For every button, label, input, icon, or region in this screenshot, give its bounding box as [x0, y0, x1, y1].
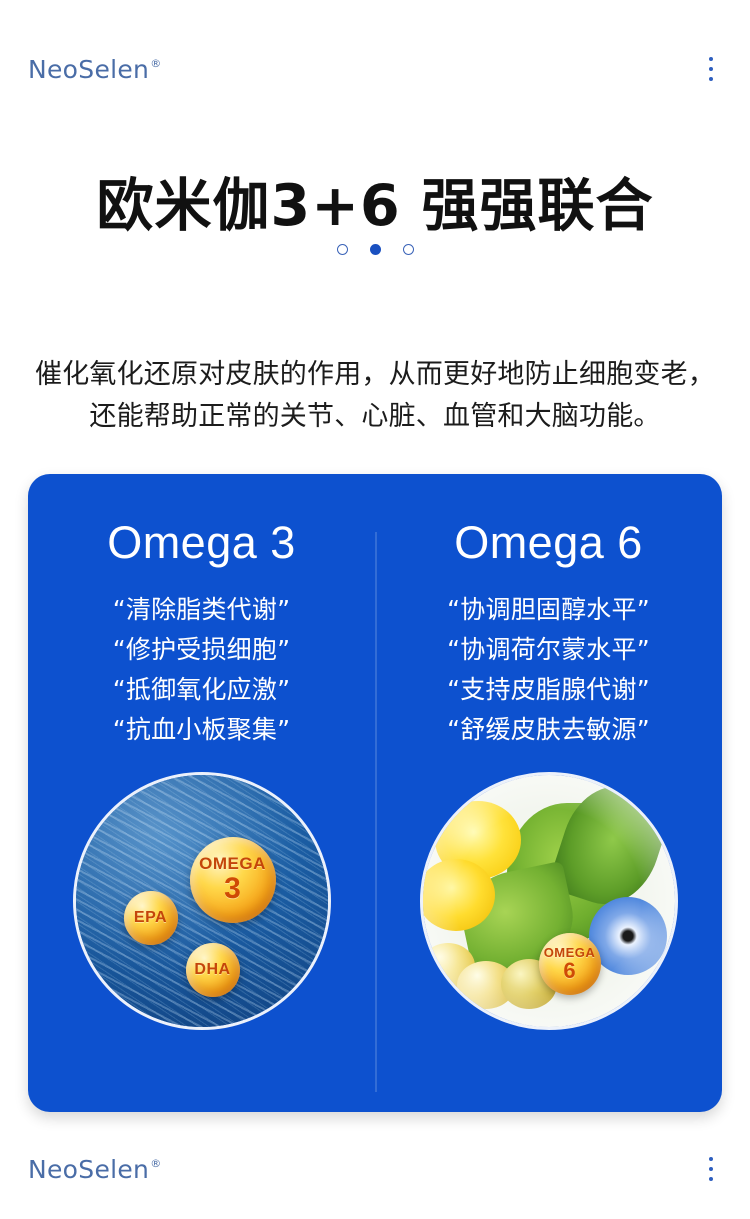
list-item: “协调荷尔蒙水平”	[447, 630, 650, 670]
page-footer: NeoSelen®	[0, 1140, 750, 1198]
botanical-background	[423, 775, 675, 1027]
list-item: “协调胆固醇水平”	[447, 590, 650, 630]
page-title: 欧米伽3+6 强强联合	[0, 174, 750, 240]
kebab-dot	[709, 77, 713, 81]
carousel-dot-1[interactable]	[337, 244, 348, 255]
dha-bubble: DHA	[186, 943, 240, 997]
list-item: “修护受损细胞”	[113, 630, 291, 670]
omega-3-bubble: OMEGA 3	[190, 837, 276, 923]
kebab-menu-icon-footer[interactable]	[700, 1154, 722, 1184]
omega-6-bubble: OMEGA 6	[539, 933, 601, 995]
list-item: “舒缓皮肤去敏源”	[447, 710, 650, 750]
kebab-dot	[709, 57, 713, 61]
omega-3-image-circle: OMEGA 3 EPA DHA	[73, 772, 331, 1030]
image-vignette	[423, 775, 675, 1027]
omega-6-title: Omega 6	[454, 518, 643, 568]
kebab-dot	[709, 1167, 713, 1171]
carousel-dot-3[interactable]	[403, 244, 414, 255]
description-paragraph: 催化氧化还原对皮肤的作用，从而更好地防止细胞变老， 还能帮助正常的关节、心脏、血…	[0, 354, 750, 438]
brand-name-header: NeoSelen	[28, 57, 149, 82]
kebab-menu-icon-header[interactable]	[700, 54, 722, 84]
list-item: “清除脂类代谢”	[113, 590, 291, 630]
omega-3-bubble-number: 3	[224, 874, 241, 904]
brand-logo-footer[interactable]: NeoSelen®	[28, 1157, 162, 1182]
carousel-pagination	[0, 244, 750, 255]
omega-6-feature-list: “协调胆固醇水平” “协调荷尔蒙水平” “支持皮脂腺代谢” “舒缓皮肤去敏源”	[447, 590, 650, 750]
omega-6-column: Omega 6 “协调胆固醇水平” “协调荷尔蒙水平” “支持皮脂腺代谢” “舒…	[375, 474, 722, 1112]
list-item: “支持皮脂腺代谢”	[447, 670, 650, 710]
omega-3-title: Omega 3	[107, 518, 296, 568]
kebab-dot	[709, 1177, 713, 1181]
omega-6-bubble-number: 6	[563, 960, 575, 982]
omega-6-bubble-label: OMEGA	[544, 946, 596, 959]
epa-bubble: EPA	[124, 891, 178, 945]
carousel-dot-2-active[interactable]	[370, 244, 381, 255]
page-header: NeoSelen®	[0, 40, 750, 98]
omega-comparison-card: Omega 3 “清除脂类代谢” “修护受损细胞” “抵御氧化应激” “抗血小板…	[28, 474, 722, 1112]
omega-3-bubble-label: OMEGA	[199, 855, 266, 872]
brand-name-footer: NeoSelen	[28, 1157, 149, 1182]
epa-bubble-label: EPA	[134, 910, 167, 926]
kebab-dot	[709, 67, 713, 71]
description-line-2: 还能帮助正常的关节、心脏、血管和大脑功能。	[0, 396, 750, 438]
dha-bubble-label: DHA	[194, 962, 230, 978]
description-line-1: 催化氧化还原对皮肤的作用，从而更好地防止细胞变老，	[0, 354, 750, 396]
registered-mark-header: ®	[150, 58, 161, 69]
omega-6-image-circle: OMEGA 6	[420, 772, 678, 1030]
list-item: “抵御氧化应激”	[113, 670, 291, 710]
list-item: “抗血小板聚集”	[113, 710, 291, 750]
kebab-dot	[709, 1157, 713, 1161]
omega-3-column: Omega 3 “清除脂类代谢” “修护受损细胞” “抵御氧化应激” “抗血小板…	[28, 474, 375, 1112]
registered-mark-footer: ®	[150, 1158, 161, 1169]
brand-logo-header[interactable]: NeoSelen®	[28, 57, 162, 82]
omega-3-feature-list: “清除脂类代谢” “修护受损细胞” “抵御氧化应激” “抗血小板聚集”	[113, 590, 291, 750]
